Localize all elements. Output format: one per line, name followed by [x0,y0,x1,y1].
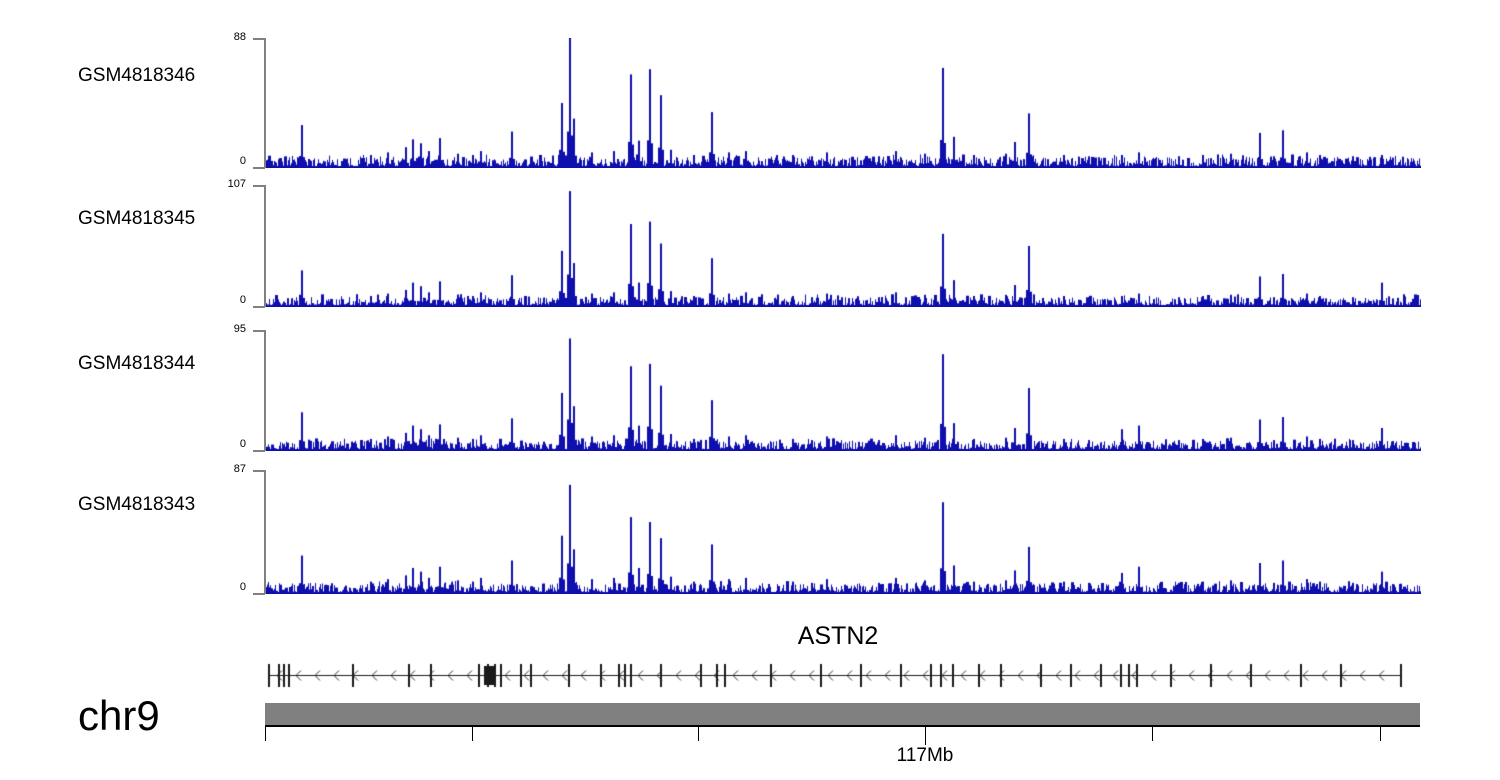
signal-plot [266,38,1421,168]
axis-min-label: 0 [206,581,246,593]
axis-min-label: 0 [206,294,246,306]
axis-max-label: 107 [206,178,246,190]
axis-tick-bottom [253,593,265,595]
signal-track: GSM4818343 87 0 [0,470,1500,594]
track-label: GSM4818343 [78,494,195,516]
ruler-tick [698,727,699,741]
axis-max-label: 95 [206,323,246,335]
axis-tick-bottom [253,306,265,308]
ideogram-baseline [265,725,1420,727]
signal-track: GSM4818344 95 0 [0,330,1500,451]
genome-browser: GSM4818346 88 0 GSM4818345 107 0 GSM4818… [0,0,1500,780]
coordinate-label: 117Mb [825,745,1025,767]
gene-model[interactable] [0,655,1500,695]
chromosome-ideogram[interactable] [265,703,1420,725]
ruler-tick [265,727,266,741]
signal-plot [266,330,1421,451]
track-label: GSM4818344 [78,353,195,375]
signal-plot [266,185,1421,307]
gene-name-label: ASTN2 [688,622,988,651]
ruler-tick [472,727,473,741]
axis-max-label: 88 [206,31,246,43]
chromosome-label: chr9 [78,692,160,740]
axis-tick-top [253,330,265,332]
axis-tick-top [253,38,265,40]
axis-tick-top [253,470,265,472]
ruler-tick [925,727,926,745]
axis-min-label: 0 [206,155,246,167]
axis-max-label: 87 [206,463,246,475]
ruler-tick [1380,727,1381,741]
ruler-tick [1152,727,1153,741]
signal-plot [266,470,1421,594]
track-label: GSM4818346 [78,65,195,87]
axis-tick-top [253,185,265,187]
track-label: GSM4818345 [78,208,195,230]
axis-min-label: 0 [206,438,246,450]
signal-track: GSM4818346 88 0 [0,38,1500,168]
axis-tick-bottom [253,167,265,169]
signal-track: GSM4818345 107 0 [0,185,1500,307]
axis-tick-bottom [253,450,265,452]
